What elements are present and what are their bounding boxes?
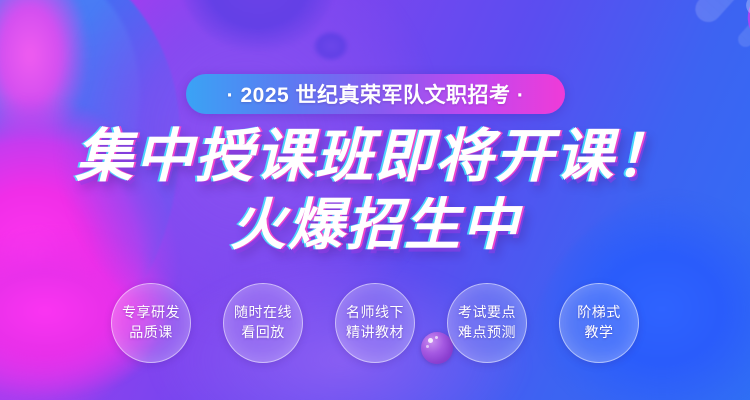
campaign-badge-label: · 2025 世纪真荣军队文职招考 · <box>227 79 525 109</box>
feature-2-line-2: 看回放 <box>241 323 285 343</box>
banner-content: · 2025 世纪真荣军队文职招考 · 集中授课班即将开课！ 火爆招生中 专享研… <box>0 0 750 400</box>
feature-3-line-2: 精讲教材 <box>346 323 404 343</box>
headline-line-1: 集中授课班即将开课！ <box>75 124 675 189</box>
feature-circle-2[interactable]: 随时在线 看回放 <box>223 283 303 363</box>
feature-1-line-2: 品质课 <box>129 323 173 343</box>
feature-3-line-1: 名师线下 <box>346 303 404 323</box>
campaign-badge: · 2025 世纪真荣军队文职招考 · <box>186 74 565 114</box>
promo-banner: · 2025 世纪真荣军队文职招考 · 集中授课班即将开课！ 火爆招生中 专享研… <box>0 0 750 400</box>
feature-4-line-2: 难点预测 <box>458 323 516 343</box>
feature-circle-3[interactable]: 名师线下 精讲教材 <box>335 283 415 363</box>
feature-5-line-1: 阶梯式 <box>577 303 621 323</box>
headline-line-2: 火爆招生中 <box>0 195 750 255</box>
feature-circle-4[interactable]: 考试要点 难点预测 <box>447 283 527 363</box>
feature-circle-1[interactable]: 专享研发 品质课 <box>111 283 191 363</box>
feature-2-line-1: 随时在线 <box>234 303 292 323</box>
feature-4-line-1: 考试要点 <box>458 303 516 323</box>
feature-circle-5[interactable]: 阶梯式 教学 <box>559 283 639 363</box>
feature-5-line-2: 教学 <box>585 323 614 343</box>
feature-1-line-1: 专享研发 <box>122 303 180 323</box>
headline: 集中授课班即将开课！ 火爆招生中 <box>0 126 750 255</box>
feature-circle-list: 专享研发 品质课 随时在线 看回放 名师线下 精讲教材 考试要点 难点预测 阶梯… <box>0 283 750 363</box>
